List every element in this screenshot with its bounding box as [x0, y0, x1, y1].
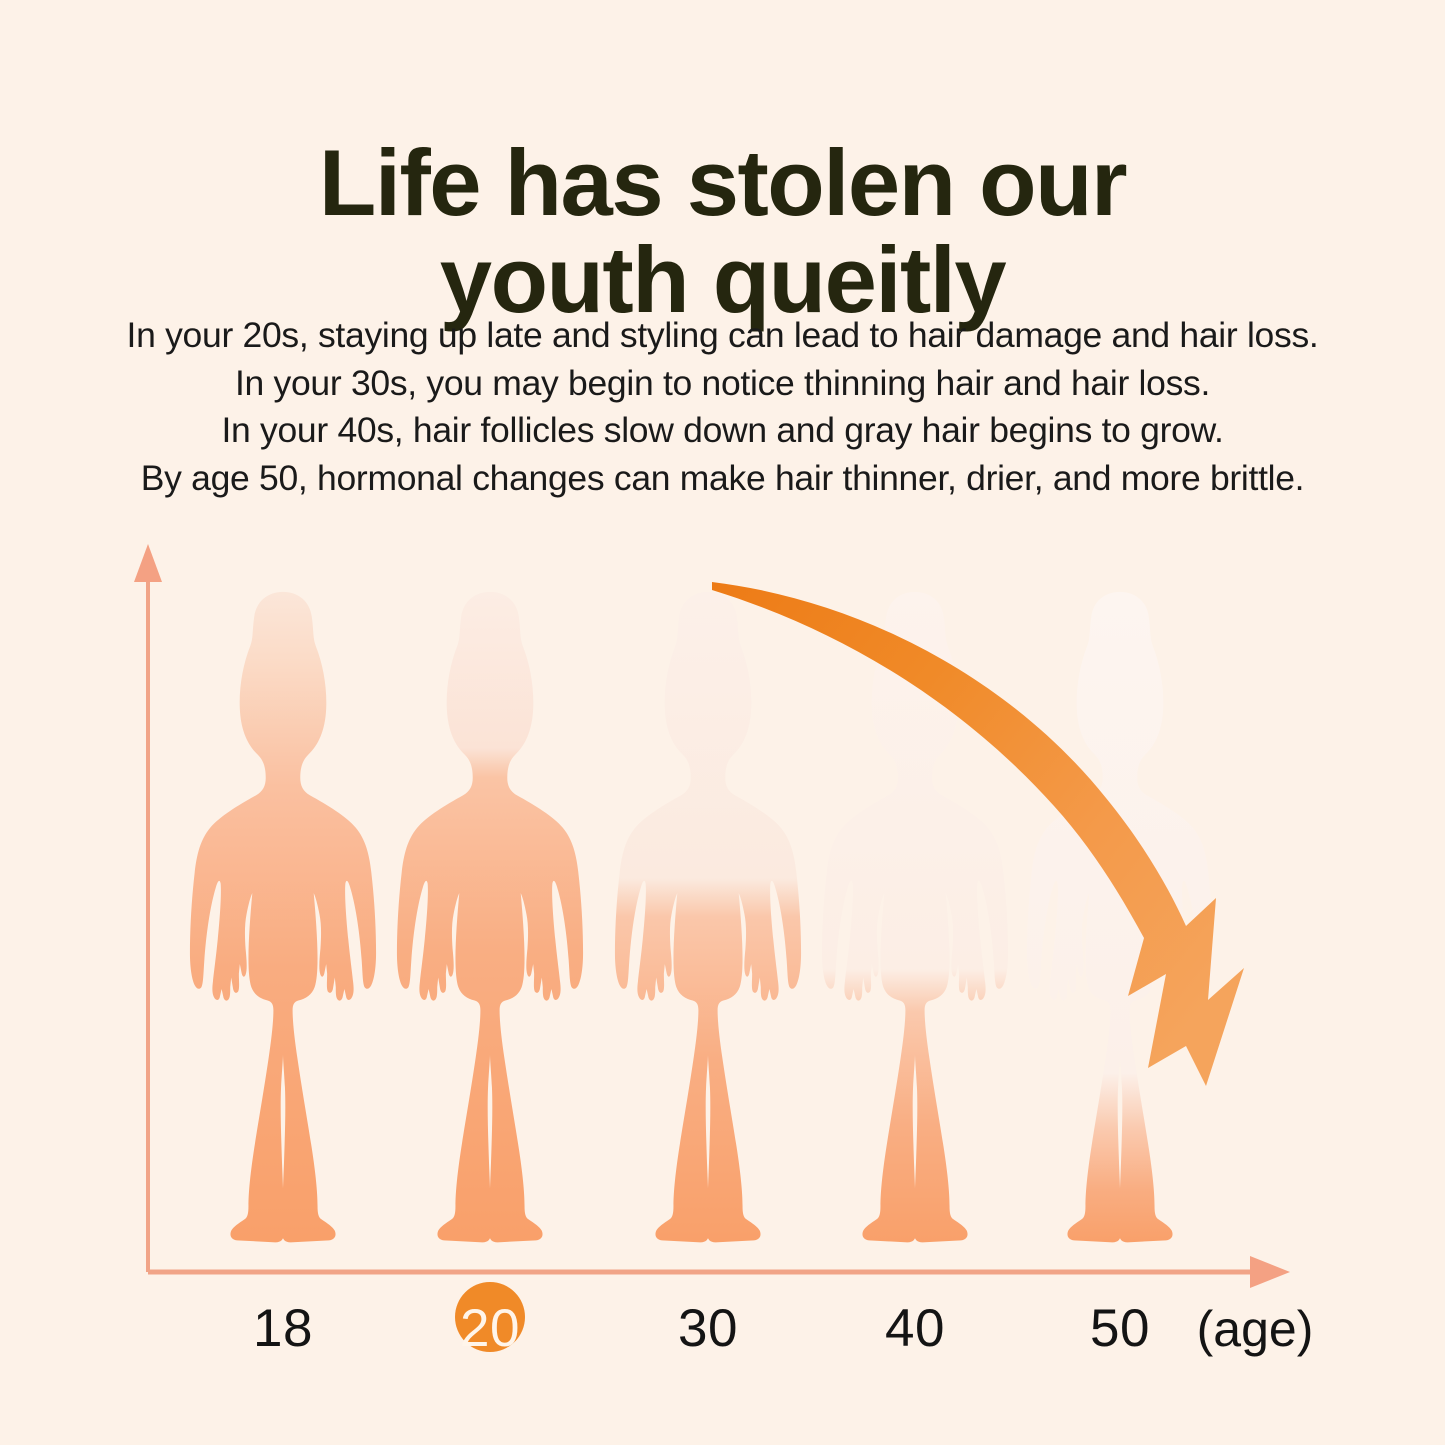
figure-age-20	[397, 592, 583, 1242]
age-decline-chart: 18 20 30 40 50 (age)	[0, 530, 1445, 1445]
tick-label-40: 40	[845, 1298, 985, 1360]
tick-label-20: 20	[420, 1298, 560, 1360]
x-axis	[148, 1256, 1290, 1288]
figure-age-18	[190, 592, 376, 1242]
body-line-1: In your 20s, staying up late and styling…	[0, 312, 1445, 360]
body-line-4: By age 50, hormonal changes can make hai…	[0, 455, 1445, 503]
page-title: Life has stolen our youth queitly	[0, 135, 1445, 329]
figure-age-30	[615, 592, 801, 1242]
figure-age-50	[1027, 592, 1213, 1242]
tick-label-30: 30	[638, 1298, 778, 1360]
y-axis	[134, 544, 162, 1272]
headline-line-1: Life has stolen our	[0, 135, 1445, 232]
body-line-3: In your 40s, hair follicles slow down an…	[0, 407, 1445, 455]
body-line-2: In your 30s, you may begin to notice thi…	[0, 360, 1445, 408]
axis-unit-label: (age)	[1165, 1298, 1345, 1360]
tick-label-18: 18	[213, 1298, 353, 1360]
body-copy: In your 20s, staying up late and styling…	[0, 312, 1445, 502]
figure-group	[190, 592, 1213, 1242]
poster-root: Life has stolen our youth queitly In you…	[0, 0, 1445, 1445]
